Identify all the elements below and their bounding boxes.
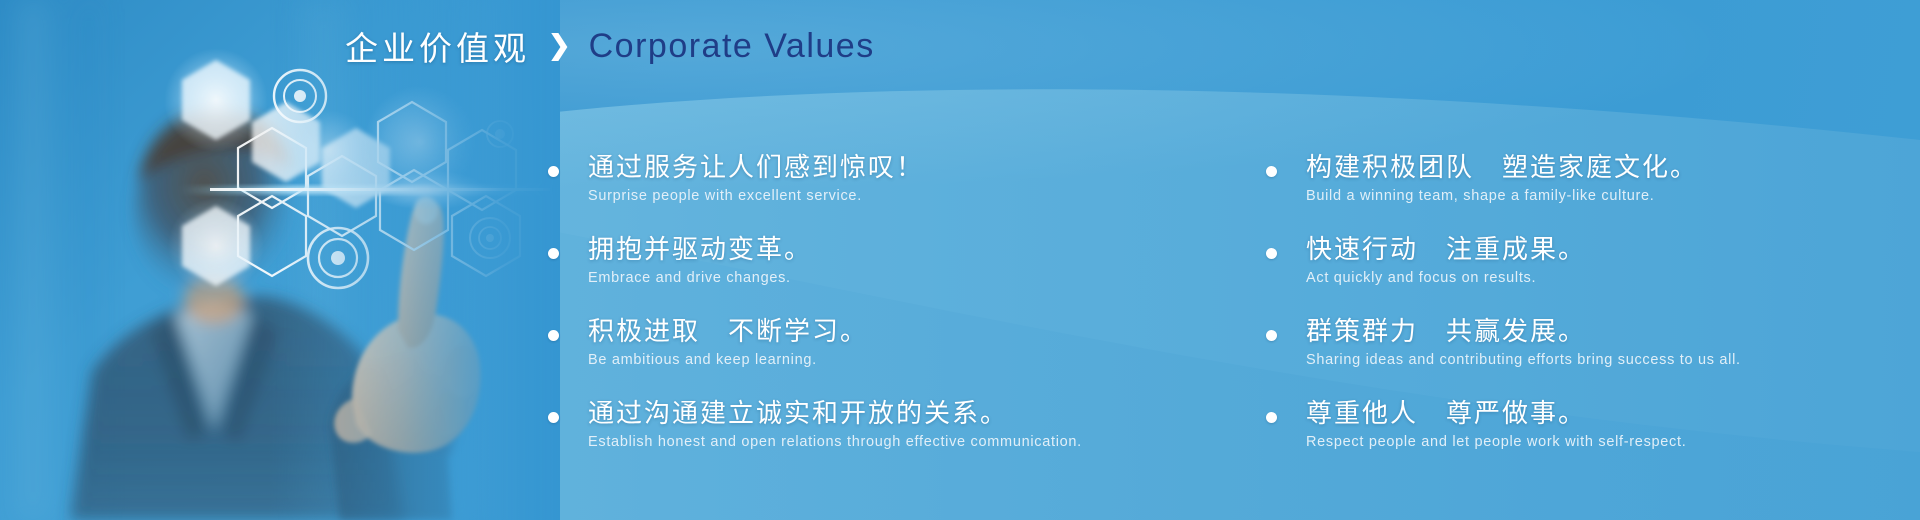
values-column-right: 构建积极团队 塑造家庭文化。 Build a winning team, sha… xyxy=(1258,152,1898,480)
page-title: 企业价值观 ❯ Corporate Values xyxy=(345,22,875,70)
value-text-en: Be ambitious and keep learning. xyxy=(588,352,1250,369)
value-text-cn: 积极进取 不断学习。 xyxy=(588,316,1250,347)
value-text-cn: 快速行动 注重成果。 xyxy=(1306,234,1898,265)
bullet-icon xyxy=(1266,412,1277,423)
value-item: 拥抱并驱动变革。 Embrace and drive changes. xyxy=(540,234,1250,316)
title-chinese: 企业价值观 xyxy=(345,22,530,70)
bullet-icon xyxy=(548,412,559,423)
bullet-icon xyxy=(548,330,559,341)
value-text-cn: 通过沟通建立诚实和开放的关系。 xyxy=(588,398,1250,429)
corporate-values-banner: 企业价值观 ❯ Corporate Values 通过服务让人们感到惊叹！ Su… xyxy=(0,0,1920,520)
value-text-cn: 群策群力 共赢发展。 xyxy=(1306,316,1898,347)
bullet-icon xyxy=(1266,330,1277,341)
bullet-icon xyxy=(1266,248,1277,259)
value-text-cn: 拥抱并驱动变革。 xyxy=(588,234,1250,265)
chevron-right-icon: ❯ xyxy=(548,32,571,59)
value-item: 通过服务让人们感到惊叹！ Surprise people with excell… xyxy=(540,152,1250,234)
title-english: Corporate Values xyxy=(589,27,875,66)
values-column-left: 通过服务让人们感到惊叹！ Surprise people with excell… xyxy=(540,152,1250,480)
value-text-cn: 构建积极团队 塑造家庭文化。 xyxy=(1306,152,1898,183)
bullet-icon xyxy=(1266,166,1277,177)
value-item: 积极进取 不断学习。 Be ambitious and keep learnin… xyxy=(540,316,1250,398)
value-text-en: Surprise people with excellent service. xyxy=(588,188,1250,205)
value-item: 快速行动 注重成果。 Act quickly and focus on resu… xyxy=(1258,234,1898,316)
value-item: 通过沟通建立诚实和开放的关系。 Establish honest and ope… xyxy=(540,398,1250,480)
value-item: 尊重他人 尊严做事。 Respect people and let people… xyxy=(1258,398,1898,480)
value-item: 群策群力 共赢发展。 Sharing ideas and contributin… xyxy=(1258,316,1898,398)
value-text-en: Establish honest and open relations thro… xyxy=(588,434,1250,451)
value-text-cn: 通过服务让人们感到惊叹！ xyxy=(588,152,1250,183)
value-text-en: Embrace and drive changes. xyxy=(588,270,1250,287)
value-text-cn: 尊重他人 尊严做事。 xyxy=(1306,398,1898,429)
value-text-en: Respect people and let people work with … xyxy=(1306,434,1898,451)
value-text-en: Sharing ideas and contributing efforts b… xyxy=(1306,352,1898,369)
bullet-icon xyxy=(548,248,559,259)
value-text-en: Build a winning team, shape a family-lik… xyxy=(1306,188,1898,205)
bullet-icon xyxy=(548,166,559,177)
value-item: 构建积极团队 塑造家庭文化。 Build a winning team, sha… xyxy=(1258,152,1898,234)
value-text-en: Act quickly and focus on results. xyxy=(1306,270,1898,287)
values-columns: 通过服务让人们感到惊叹！ Surprise people with excell… xyxy=(0,152,1920,482)
